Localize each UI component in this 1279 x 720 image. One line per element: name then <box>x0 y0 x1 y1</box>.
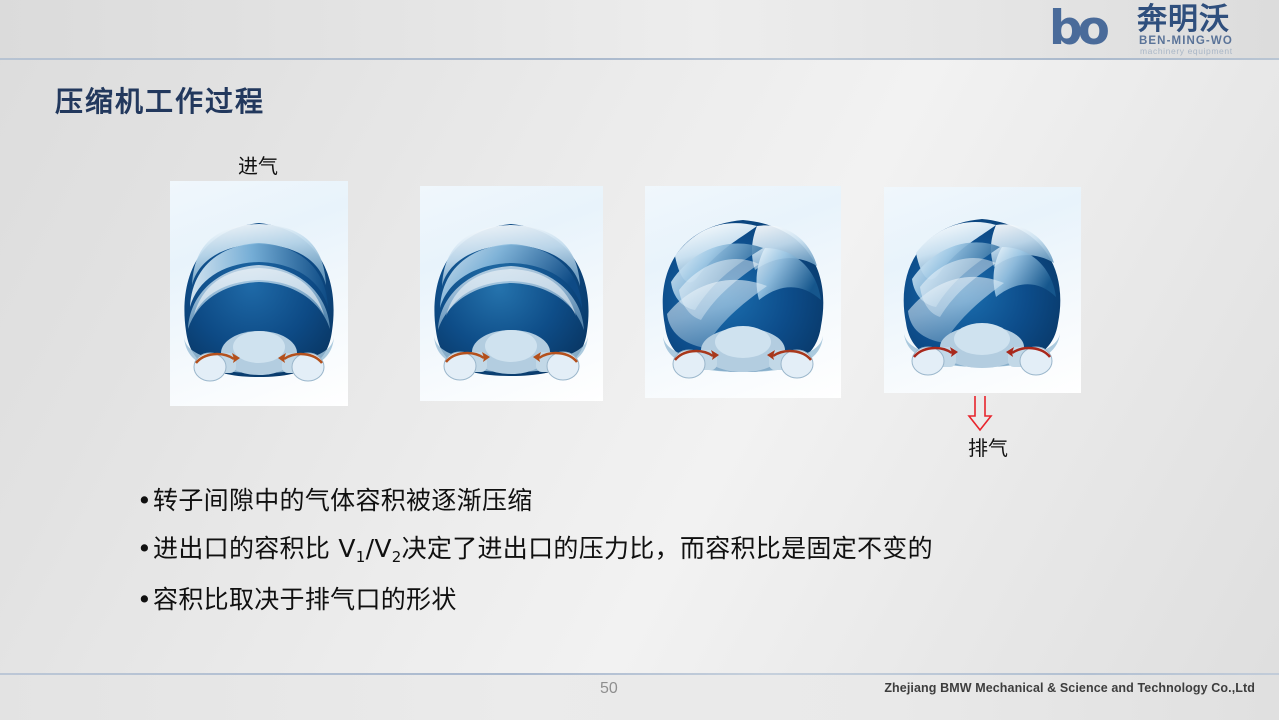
page-number: 50 <box>600 680 618 698</box>
bullet-text: 容积比取决于排气口的形状 <box>153 585 457 614</box>
bullet-item-2: •进出口的容积比 V1/V2决定了进出口的压力比，而容积比是固定不变的 <box>137 525 1137 576</box>
rotor-figure-4 <box>884 187 1081 393</box>
bullet-text-mid: /V <box>366 534 392 563</box>
exhaust-arrow-icon <box>967 396 993 432</box>
bullet-text-post: 决定了进出口的压力比，而容积比是固定不变的 <box>402 534 933 563</box>
bullet-item-1: •转子间隙中的气体容积被逐渐压缩 <box>137 477 1137 525</box>
bullet-text: 转子间隙中的气体容积被逐渐压缩 <box>153 486 533 515</box>
screw-rotor-illustration <box>420 186 603 401</box>
screw-rotor-illustration <box>884 187 1081 393</box>
footer-company-name: Zhejiang BMW Mechanical & Science and Te… <box>884 681 1255 695</box>
bullet-item-3: •容积比取决于排气口的形状 <box>137 576 1137 624</box>
rotor-figure-2 <box>420 186 603 401</box>
rotor-figure-1 <box>170 181 348 406</box>
rotor-figure-3 <box>645 186 841 398</box>
bullet-text-pre: 进出口的容积比 V <box>153 534 356 563</box>
bullet-list: •转子间隙中的气体容积被逐渐压缩 •进出口的容积比 V1/V2决定了进出口的压力… <box>137 477 1137 624</box>
screw-rotor-illustration <box>170 181 348 406</box>
subscript-2: 2 <box>392 548 402 566</box>
intake-label: 进气 <box>238 150 278 179</box>
bullet-marker: • <box>137 534 152 563</box>
slide-canvas: bo 奔明沃 BEN-MING-WO machinery equipment 压… <box>0 0 1279 720</box>
screw-rotor-illustration <box>645 186 841 398</box>
exhaust-label: 排气 <box>968 432 1008 461</box>
subscript-1: 1 <box>356 548 366 566</box>
bullet-marker: • <box>137 585 152 614</box>
bullet-marker: • <box>137 486 152 515</box>
